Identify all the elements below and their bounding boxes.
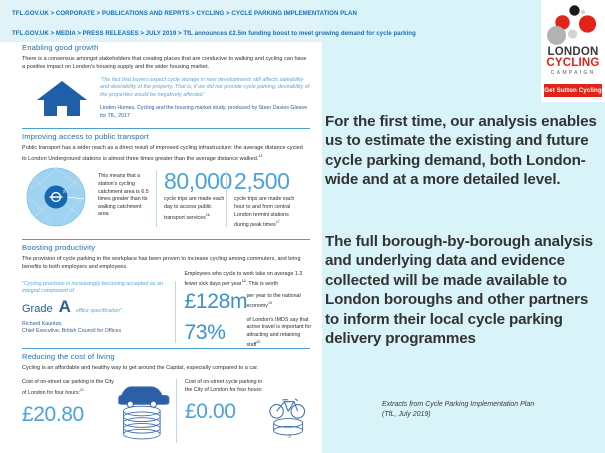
stat-label-128m: per year to the national economy19 xyxy=(242,293,312,311)
section-body-reducing-cost: Cycling is an affordable and healthy way… xyxy=(22,364,306,372)
section-improving-access: Improving access to public transport Pub… xyxy=(22,132,312,230)
section-divider-reducing-cost xyxy=(22,348,310,349)
page-number: 9 xyxy=(288,434,291,440)
stat-label-80000: cycle trips are made each day to access … xyxy=(164,196,226,222)
grade-quote-lead: "Cycling provision is increasingly becom… xyxy=(22,281,173,296)
stat-80000: 80,000 cycle trips are made each day to … xyxy=(164,167,226,222)
section-title-boosting-productivity: Boosting productivity xyxy=(22,243,312,252)
footnote-marker-16: 16 xyxy=(206,213,210,217)
grade-attrib-role: Chief Executive, British Council for Off… xyxy=(22,328,173,335)
right-panel-quote-1: For the first time, our analysis enables… xyxy=(325,112,597,190)
section-boosting-productivity: Boosting productivity The provision of c… xyxy=(22,243,312,350)
stat-value-2500: 2,500 xyxy=(234,169,300,193)
car-parking-price: £20.80 xyxy=(22,403,118,427)
cost-compare-divider xyxy=(176,379,177,443)
footnote-marker-19: 19 xyxy=(268,301,272,305)
section-divider-boosting-productivity xyxy=(22,239,310,240)
cycle-parking-cost-block: Cost of on-street cycle parking in the C… xyxy=(185,379,270,445)
logo-text-cycling: CYCLING xyxy=(541,58,605,69)
stat-label-2500: cycle trips are made each hour to and fr… xyxy=(234,196,300,229)
footnote-marker-20: 20 xyxy=(256,340,260,344)
section-title-improving-access: Improving access to public transport xyxy=(22,132,312,141)
right-panel-credit: Extracts from Cycle Parking Implementati… xyxy=(382,400,582,419)
section-title-reducing-cost: Reducing the cost of living xyxy=(22,352,312,361)
grade-letter-a: A xyxy=(59,297,71,317)
grade-attrib-name: Richard Kauntze, xyxy=(22,321,173,328)
section-attribution-enabling-good-growth: Linden Homes, Cycling and the housing ma… xyxy=(100,105,312,120)
logo-wordmark: LONDON CYCLING CAMPAIGN xyxy=(541,47,605,77)
house-icon xyxy=(36,79,88,117)
stat-divider-1 xyxy=(156,171,157,227)
logo-text-campaign: CAMPAIGN xyxy=(541,69,605,77)
london-cycling-campaign-logo: LONDON CYCLING CAMPAIGN Get Sutton Cycli… xyxy=(541,0,605,102)
stat-2500: 2,500 cycle trips are made each hour to … xyxy=(234,167,300,229)
grade-a-quote-block: "Cycling provision is increasingly becom… xyxy=(22,281,173,350)
right-panel-quote-2: The full borough-by-borough analysis and… xyxy=(325,232,597,348)
section-body-improving-access: Public transport has a wider reach as a … xyxy=(22,144,306,163)
stat-value-73pct: 73% xyxy=(184,322,242,344)
productivity-stats: Employees who cycle to work take on aver… xyxy=(184,281,312,350)
car-parking-label: Cost of on-street car parking in the Cit… xyxy=(22,379,118,397)
section-divider-improving-access xyxy=(22,128,310,129)
breadcrumb-press-release[interactable]: TFL.GOV.UK > MEDIA > PRESS RELEASES > JU… xyxy=(12,30,416,37)
car-parking-cost-block: Cost of on-street car parking in the Cit… xyxy=(22,379,118,445)
cycle-parking-price: £0.00 xyxy=(185,400,270,424)
section-title-enabling-good-growth: Enabling good growth xyxy=(22,43,312,52)
section-quote-enabling-good-growth: 'The fact that buyers expect cycle stora… xyxy=(100,77,312,100)
grade-word: Grade xyxy=(22,303,53,315)
stat-value-128m: £128m xyxy=(184,291,242,313)
footnote-marker-13: 13 xyxy=(258,154,262,158)
credit-line-1: Extracts from Cycle Parking Implementati… xyxy=(382,400,582,410)
catchment-circle-icon: x xyxy=(22,167,94,227)
catchment-callout-text: This means that a station's cycling catc… xyxy=(94,167,156,219)
footnote-marker-17: 17 xyxy=(276,220,280,224)
section-reducing-cost-of-living: Reducing the cost of living Cycling is a… xyxy=(22,352,312,445)
footnote-marker-21: 21 xyxy=(80,388,84,392)
car-on-stack-icon xyxy=(112,377,172,443)
sickdays-intro: Employees who cycle to work take on aver… xyxy=(184,271,312,289)
stat-divider-2 xyxy=(226,171,227,227)
grade-quote-tail: office specification" xyxy=(76,308,122,316)
logo-dots-icon xyxy=(541,4,605,46)
section-body-enabling-good-growth: There is a consensus amongst stakeholder… xyxy=(22,55,308,72)
stat-label-73pct: of London's IMDS say that active travel … xyxy=(242,317,312,350)
cycle-parking-label: Cost of on-street cycle parking in the C… xyxy=(185,379,270,394)
section-body-boosting-productivity: The provision of cycle parking in the wo… xyxy=(22,255,306,272)
logo-strapline-badge: Get Sutton Cycling xyxy=(544,84,602,97)
productivity-divider xyxy=(175,281,176,343)
credit-line-2: (TfL, July 2019) xyxy=(382,410,582,420)
breadcrumb-corporate[interactable]: TFL.GOV.UK > CORPORATE > PUBLICATIONS AN… xyxy=(12,10,357,17)
stat-value-80000: 80,000 xyxy=(164,169,226,193)
section-enabling-good-growth: Enabling good growth There is a consensu… xyxy=(22,43,312,120)
